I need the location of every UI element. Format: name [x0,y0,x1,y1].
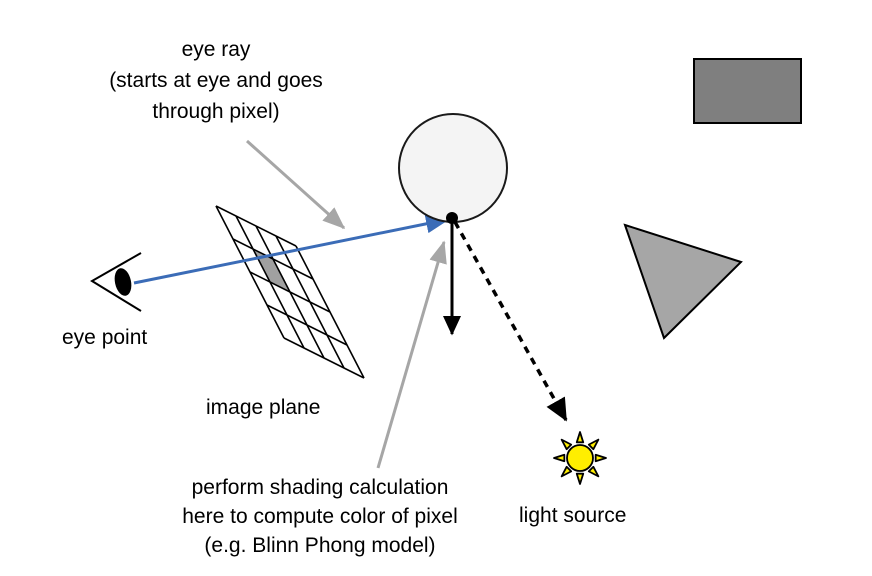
shading-caption-line-1: perform shading calculation [192,476,449,499]
light-source-label: light source [519,504,626,527]
eye-ray-caption-line-3: through pixel) [152,100,279,123]
shading-caption-line-2: here to compute color of pixel [182,505,457,528]
shading-caption: perform shading calculation here to comp… [182,476,457,557]
light-source-sun-icon [554,432,606,484]
shading-caption-line-3: (e.g. Blinn Phong model) [204,534,435,557]
eye-ray-caption-line-1: eye ray [182,38,251,61]
shading-caption-bold-word: shading [270,476,344,499]
image-plane-label: image plane [206,396,320,419]
scene-rectangle [694,59,801,123]
diagram-canvas: eye ray (starts at eye and goes through … [0,0,872,576]
ray-tracing-diagram: eye ray (starts at eye and goes through … [0,0,872,576]
hit-point-dot [446,212,458,224]
sun-core [567,445,593,471]
eye-point-label: eye point [62,326,147,349]
shading-caption-text-before: perform [192,476,270,499]
shading-caption-text-after: calculation [343,476,448,499]
eye-ray-caption-line-2: (starts at eye and goes [109,69,323,92]
scene-sphere [399,114,507,222]
